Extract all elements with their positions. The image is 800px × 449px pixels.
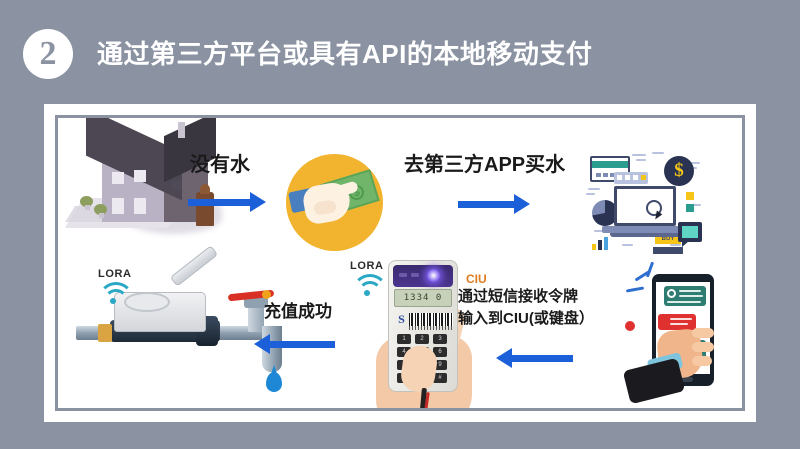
dollar-coin-icon: $ (664, 156, 694, 186)
arrow-house-to-money (188, 192, 270, 212)
diagram-outer-frame: 没有水 $ 去第三方APP买水 (44, 104, 756, 422)
ciu-lora-label: LORA (350, 260, 384, 272)
notification-badge (622, 318, 638, 334)
chat-bubble-token (658, 314, 696, 330)
arrow-phone-to-ciu (496, 348, 586, 368)
diagram-canvas: 没有水 $ 去第三方APP买水 (58, 118, 742, 408)
ciu-wifi-icon (352, 274, 386, 298)
label-recharge-success: 充值成功 (264, 302, 332, 322)
meter-wifi-icon (98, 282, 132, 306)
bar-chart-icon (592, 236, 616, 250)
ecommerce-platform-illustration: $ BUY (586, 148, 704, 256)
barcode (409, 313, 453, 326)
step-number-badge: 2 (23, 29, 73, 79)
ciu-lcd-display: 1334 0 (394, 289, 452, 307)
chat-icon (678, 222, 702, 242)
ciu-device-illustration: LORA CIU 1334 0 S 1 2 (358, 258, 528, 408)
cash-payment-icon: $ (286, 154, 383, 251)
status-led (427, 269, 440, 282)
label-buy-water-app: 去第三方APP买水 (404, 154, 565, 178)
header: 2 通过第三方平台或具有API的本地移动支付 (0, 0, 800, 96)
cursor-icon (646, 200, 662, 216)
label-sms-token-line1: 通过短信接收令牌 (458, 288, 578, 306)
arrow-money-to-ecommerce (458, 194, 540, 214)
sms-phone-illustration (618, 268, 742, 398)
meter-lora-label: LORA (98, 268, 132, 280)
page-title: 通过第三方平台或具有API的本地移动支付 (97, 34, 592, 71)
arrow-ciu-to-meter (254, 334, 344, 354)
label-no-water: 没有水 (190, 154, 250, 178)
ciu-tag-label: CIU (466, 272, 487, 286)
water-meter-illustration: LORA (76, 266, 326, 386)
house-illustration (68, 122, 228, 240)
laptop-icon: BUY (614, 186, 676, 226)
brand-logo: S (396, 313, 407, 326)
diagram-inner-frame: 没有水 $ 去第三方APP买水 (55, 115, 745, 411)
water-drop-icon (266, 372, 282, 392)
label-sms-token-line2: 输入到CIU(或键盘） (458, 310, 594, 328)
